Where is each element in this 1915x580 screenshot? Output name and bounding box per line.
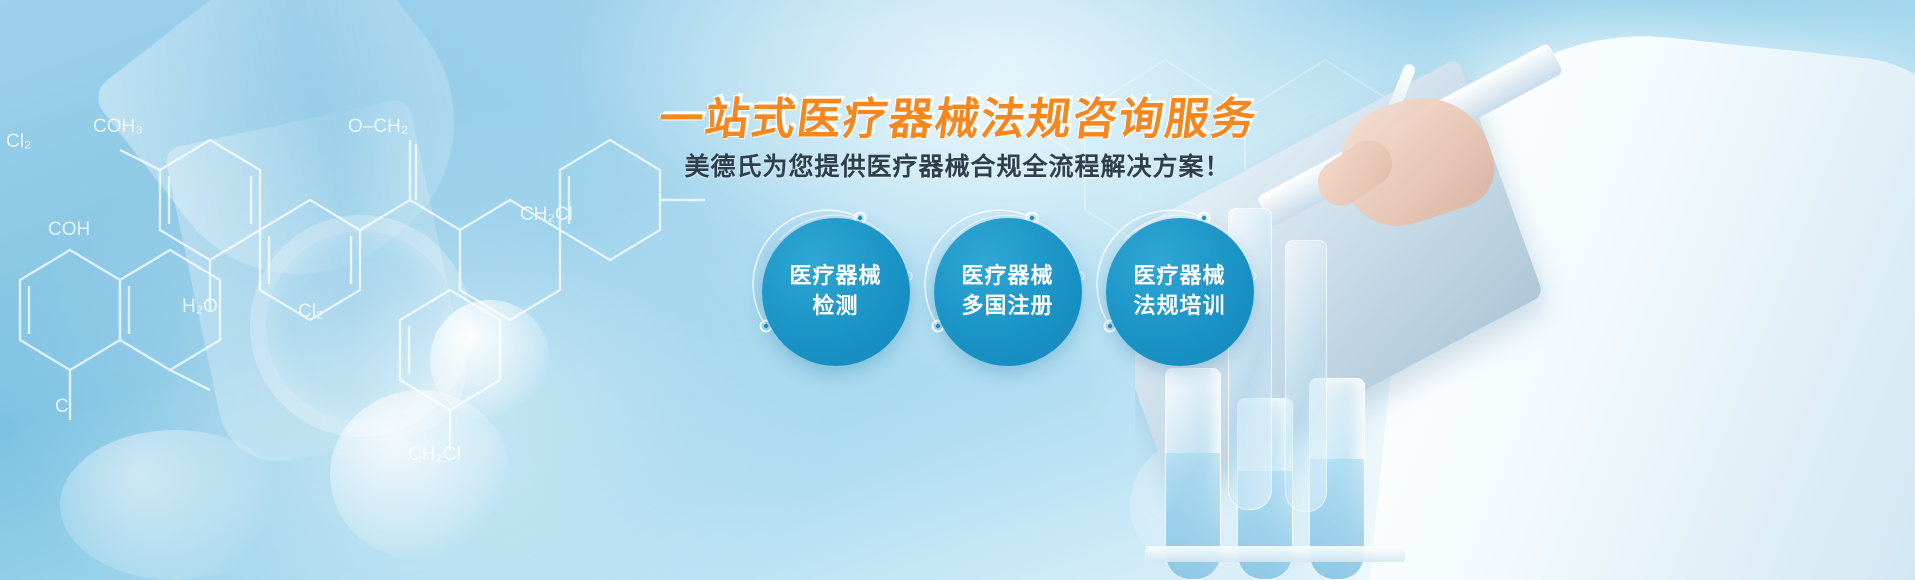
- service-badge-medical-device-regulatory-training[interactable]: 医疗器械 法规培训: [1106, 218, 1254, 366]
- page-title: 一站式医疗器械法规咨询服务: [656, 96, 1260, 144]
- svg-text:C: C: [55, 396, 69, 417]
- service-badge-medical-device-multi-country-registration[interactable]: 医疗器械 多国注册: [934, 218, 1082, 366]
- badge-line-2: 法规培训: [1133, 292, 1225, 322]
- badge-line-1: 医疗器械: [789, 262, 881, 292]
- bokeh-dot: [330, 390, 510, 560]
- badge-disc: 医疗器械 法规培训: [1106, 218, 1254, 366]
- hero-banner: Cl₂ COH₃ O–CH₂ H₂O Cl Cl₂ CH₂Cl CH₂Cl C …: [0, 0, 1915, 580]
- service-badge-medical-device-testing[interactable]: 医疗器械 检测: [762, 218, 910, 366]
- svg-text:CH₂Cl: CH₂Cl: [408, 444, 461, 465]
- badge-disc: 医疗器械 检测: [762, 218, 910, 366]
- badge-line-1: 医疗器械: [1133, 262, 1225, 292]
- headline-container: 一站式医疗器械法规咨询服务: [0, 96, 1915, 144]
- service-badge-list: 医疗器械 检测 医疗器械 多国注册: [0, 218, 1915, 366]
- subhead-container: 美德氏为您提供医疗器械合规全流程解决方案！: [0, 152, 1915, 182]
- badge-line-1: 医疗器械: [961, 262, 1053, 292]
- badge-line-2: 检测: [812, 292, 858, 322]
- badge-line-2: 多国注册: [961, 292, 1053, 322]
- page-subtitle: 美德氏为您提供医疗器械合规全流程解决方案！: [684, 152, 1230, 182]
- badge-disc: 医疗器械 多国注册: [934, 218, 1082, 366]
- rack-bar: [1145, 546, 1405, 562]
- bokeh-dot: [60, 430, 290, 580]
